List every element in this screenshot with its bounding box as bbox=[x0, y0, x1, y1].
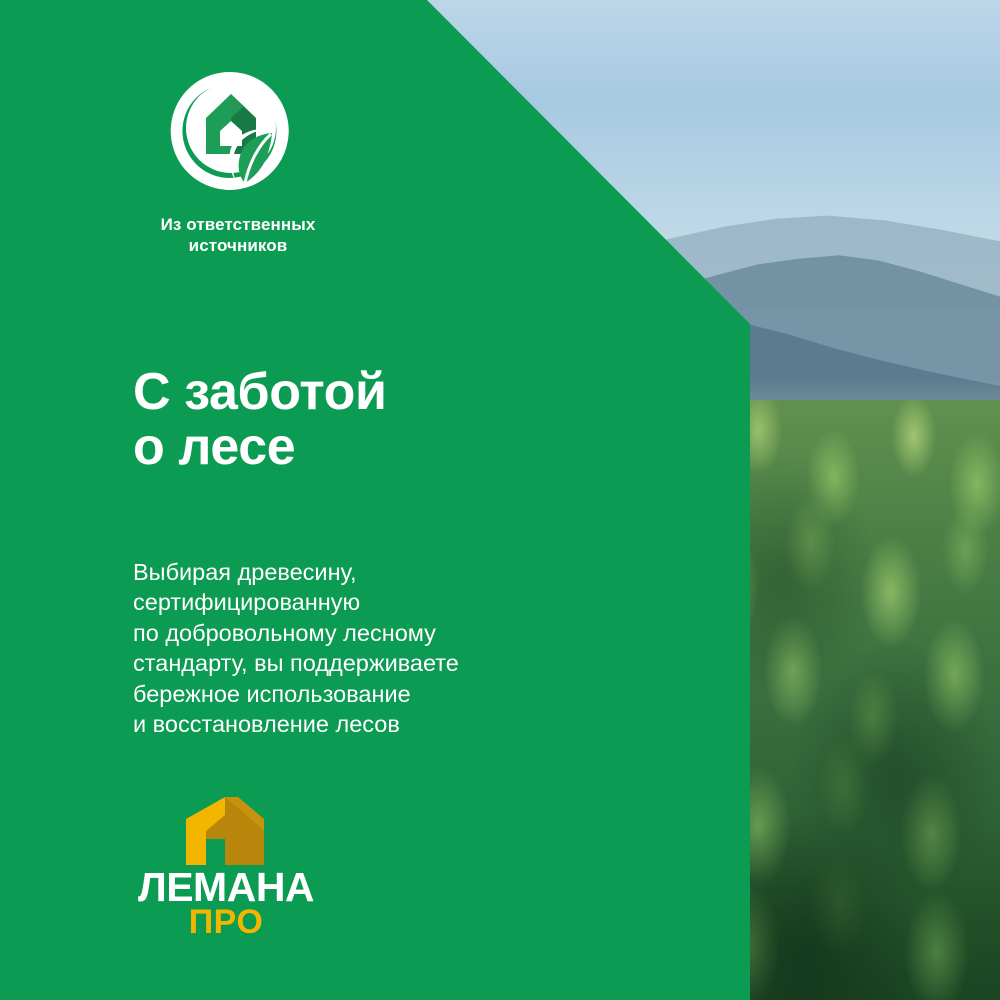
body-copy: Выбирая древесину, сертифицированную по … bbox=[133, 557, 553, 740]
brand-logo: ЛЕМАНА ПРО bbox=[136, 795, 316, 940]
brand-subtitle: ПРО bbox=[136, 905, 316, 939]
page-title: С заботой о лесе bbox=[133, 365, 387, 475]
poster-root: Из ответственных источников С заботой о … bbox=[0, 0, 1000, 1000]
brand-name: ЛЕМАНА bbox=[136, 867, 316, 907]
badge-caption: Из ответственных источников bbox=[133, 214, 343, 256]
leman-pro-house-icon bbox=[172, 795, 278, 867]
responsible-sources-seal-icon bbox=[166, 66, 296, 196]
